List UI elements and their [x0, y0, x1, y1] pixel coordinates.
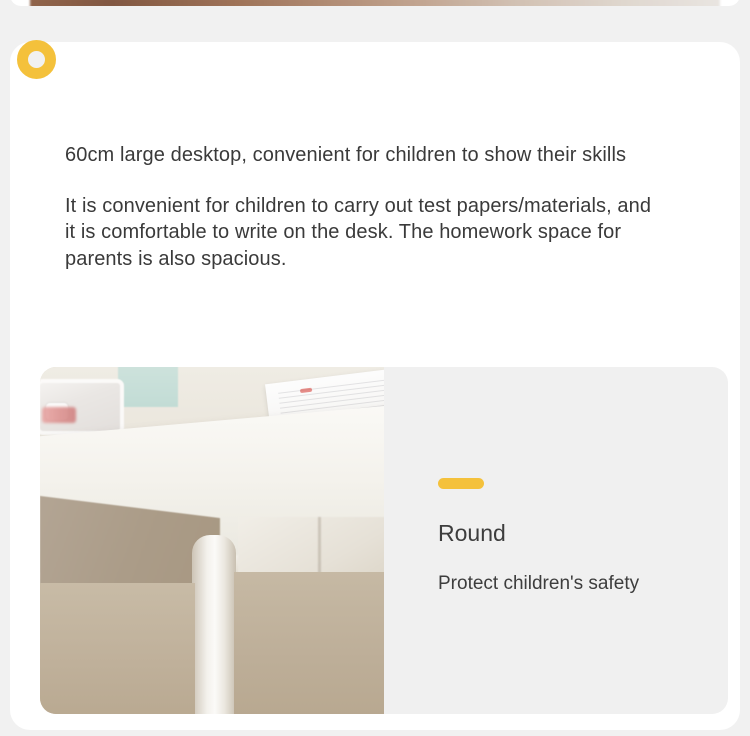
previous-card-sliver — [10, 0, 740, 6]
feature-card: 60cm large desktop, convenient for child… — [10, 42, 740, 730]
text-block: 60cm large desktop, convenient for child… — [65, 142, 665, 272]
media-row: Round Protect children's safety — [40, 367, 728, 714]
feature-info-panel: Round Protect children's safety — [384, 367, 728, 714]
feature-subtitle: Protect children's safety — [438, 572, 639, 596]
photo-organizer-label — [46, 403, 68, 420]
photo-desk-leg — [192, 535, 236, 714]
previous-card-image-strip — [30, 0, 720, 6]
yellow-ring-icon — [17, 40, 56, 79]
photo-desk-organizer — [40, 379, 124, 435]
photo-mint-panel — [118, 367, 178, 407]
accent-bar-icon — [438, 478, 484, 489]
photo-floor-right — [234, 572, 384, 714]
feature-info-inner: Round Protect children's safety — [438, 478, 639, 596]
feature-title: Round — [438, 520, 639, 546]
desk-corner-photo — [40, 367, 384, 714]
photo-floor-left — [40, 583, 195, 714]
section-body: It is convenient for children to carry o… — [65, 193, 665, 273]
section-heading: 60cm large desktop, convenient for child… — [65, 142, 665, 169]
product-detail-page: 60cm large desktop, convenient for child… — [0, 0, 750, 736]
